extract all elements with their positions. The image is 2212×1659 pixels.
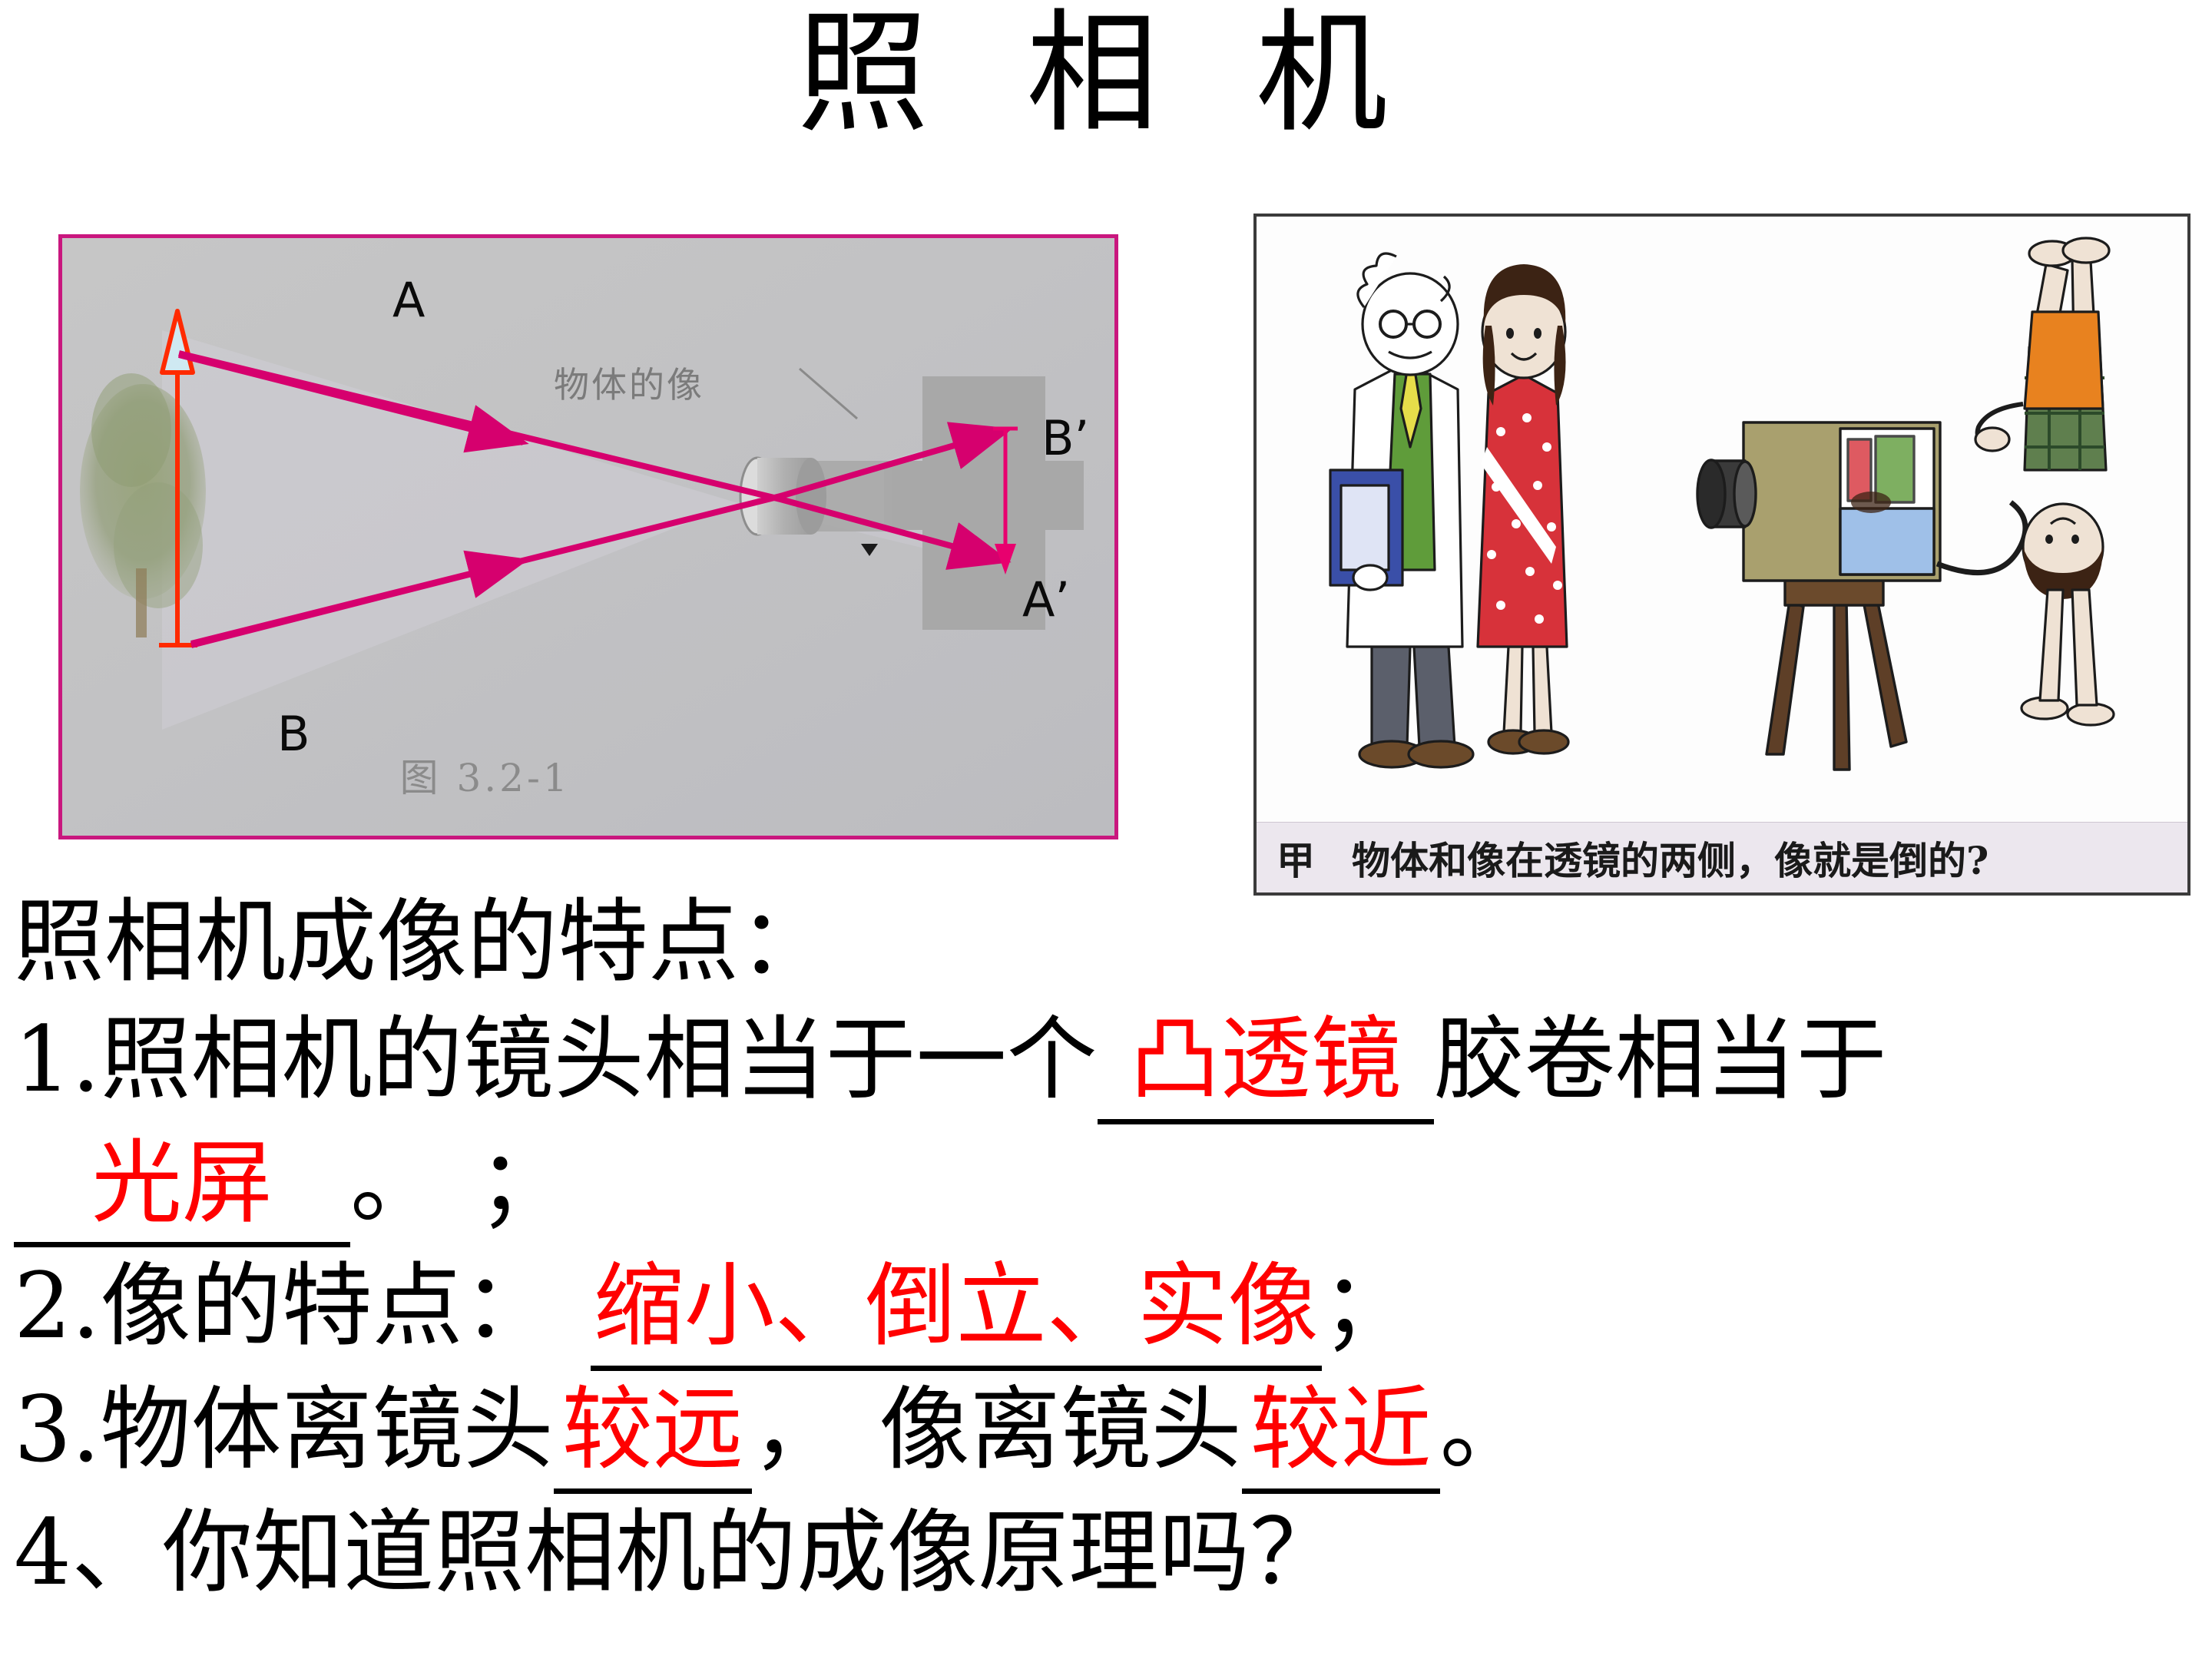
diagram-label-a: A [392, 276, 425, 324]
item1-number: 1. [14, 1006, 101, 1112]
diagram-figure-number: 图 3.2-1 [400, 756, 571, 800]
notes-item-4: 4、你知道照相机的成像原理吗？ [14, 1494, 2212, 1611]
photo-caption-text: 物体和像在透镜的两侧，像就是倒的? [1352, 830, 1988, 886]
item2-text-b: ； [1322, 1253, 1412, 1359]
item3-number: 3. [14, 1376, 101, 1482]
ray-diagram-panel: A B B’ A’ 物体的像 图 3.2-1 照相机原理图 [58, 234, 1118, 839]
item3-text-c: 像离镜头 [879, 1376, 1242, 1482]
image-annotation-text: 物体的像 [554, 357, 704, 408]
notes-item-3: 3.物体离镜头较远，像离镜头较近。 [14, 1371, 2212, 1494]
item4-number: 4、 [14, 1499, 162, 1605]
page-title: 照 相 机 [0, 5, 2212, 144]
lesson-notes: 照相机成像的特点： 1.照相机的镜头相当于一个凸透镜胶卷相当于光屏。； 2.像的… [14, 883, 2212, 1611]
item3-text-b: ， [752, 1376, 843, 1482]
photo-panel: 甲 物体和像在透镜的两侧，像就是倒的? [1253, 214, 2190, 896]
item3-text-d: 。 [1440, 1376, 1531, 1482]
diagram-label-a-prime: A’ [1022, 576, 1070, 624]
photo-caption-label: 甲 [1277, 830, 1315, 886]
item1-text-c: 相当于 [1615, 1006, 1887, 1112]
item1-blank-lens[interactable]: 凸透镜 [1098, 1001, 1434, 1124]
item3-blank-object-distance[interactable]: 较远 [554, 1371, 752, 1494]
item1-text-e: ； [478, 1130, 568, 1236]
diagram-label-b-prime: B’ [1041, 415, 1089, 462]
camera-cartoon-illustration [1257, 217, 2187, 823]
photo-caption: 甲 物体和像在透镜的两侧，像就是倒的? [1257, 822, 2187, 892]
item2-text-a: 像的特点： [101, 1253, 554, 1359]
notes-heading: 照相机成像的特点： [14, 889, 829, 995]
notes-item-1: 1.照相机的镜头相当于一个凸透镜胶卷相当于光屏。； [14, 1001, 2212, 1247]
notes-heading-line: 照相机成像的特点： [14, 883, 2212, 1001]
item3-blank-image-distance[interactable]: 较近 [1242, 1371, 1440, 1494]
item1-text-b: 胶卷 [1434, 1006, 1615, 1112]
notes-item-2: 2.像的特点：缩小、倒立、实像； [14, 1247, 2212, 1370]
item2-blank-image-features[interactable]: 缩小、倒立、实像 [591, 1247, 1322, 1370]
item1-text-d: 。 [350, 1130, 441, 1236]
diagram-caption: 图 3.2-1 照相机原理图 [339, 703, 649, 839]
item4-text: 你知道照相机的成像原理吗？ [162, 1499, 1340, 1605]
item1-blank-screen[interactable]: 光屏 [14, 1124, 350, 1247]
item2-number: 2. [14, 1253, 101, 1359]
diagram-label-b: B [277, 710, 310, 758]
item3-text-a: 物体离镜头 [101, 1376, 554, 1482]
item1-text-a: 照相机的镜头相当于一个 [101, 1006, 1098, 1112]
